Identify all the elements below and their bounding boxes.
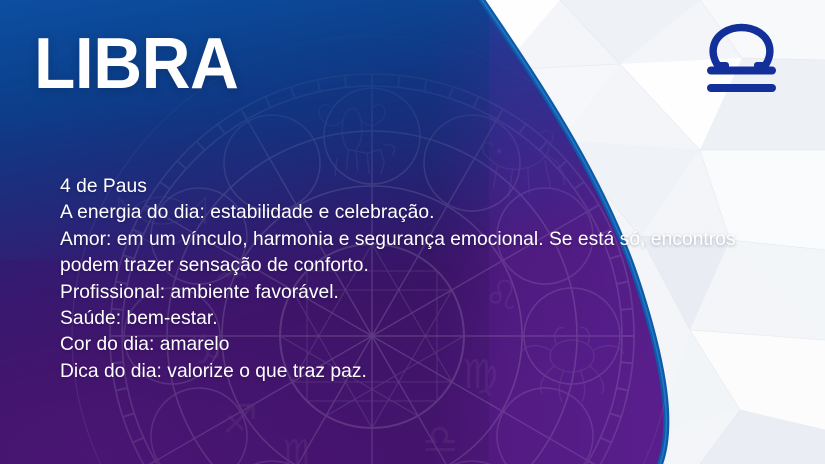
card-content: LIBRA 4 de Paus A energia do dia: estabi… xyxy=(0,0,825,464)
horoscope-card: ♌ ♍ ♎ ♏ ♐ ♑ ♒ xyxy=(0,0,825,464)
tip-of-day-line: Dica do dia: valorize o que traz paz. xyxy=(60,359,740,385)
health-line: Saúde: bem-estar. xyxy=(60,306,740,332)
horoscope-text: 4 de Paus A energia do dia: estabilidade… xyxy=(60,174,740,385)
page-title: LIBRA xyxy=(34,28,238,100)
tarot-card-line: 4 de Paus xyxy=(60,174,740,200)
energy-line: A energia do dia: estabilidade e celebra… xyxy=(60,200,740,226)
work-line: Profissional: ambiente favorável. xyxy=(60,280,740,306)
love-line: Amor: em um vínculo, harmonia e seguranç… xyxy=(60,227,740,280)
libra-scales-icon xyxy=(703,22,795,104)
color-of-day-line: Cor do dia: amarelo xyxy=(60,332,740,358)
